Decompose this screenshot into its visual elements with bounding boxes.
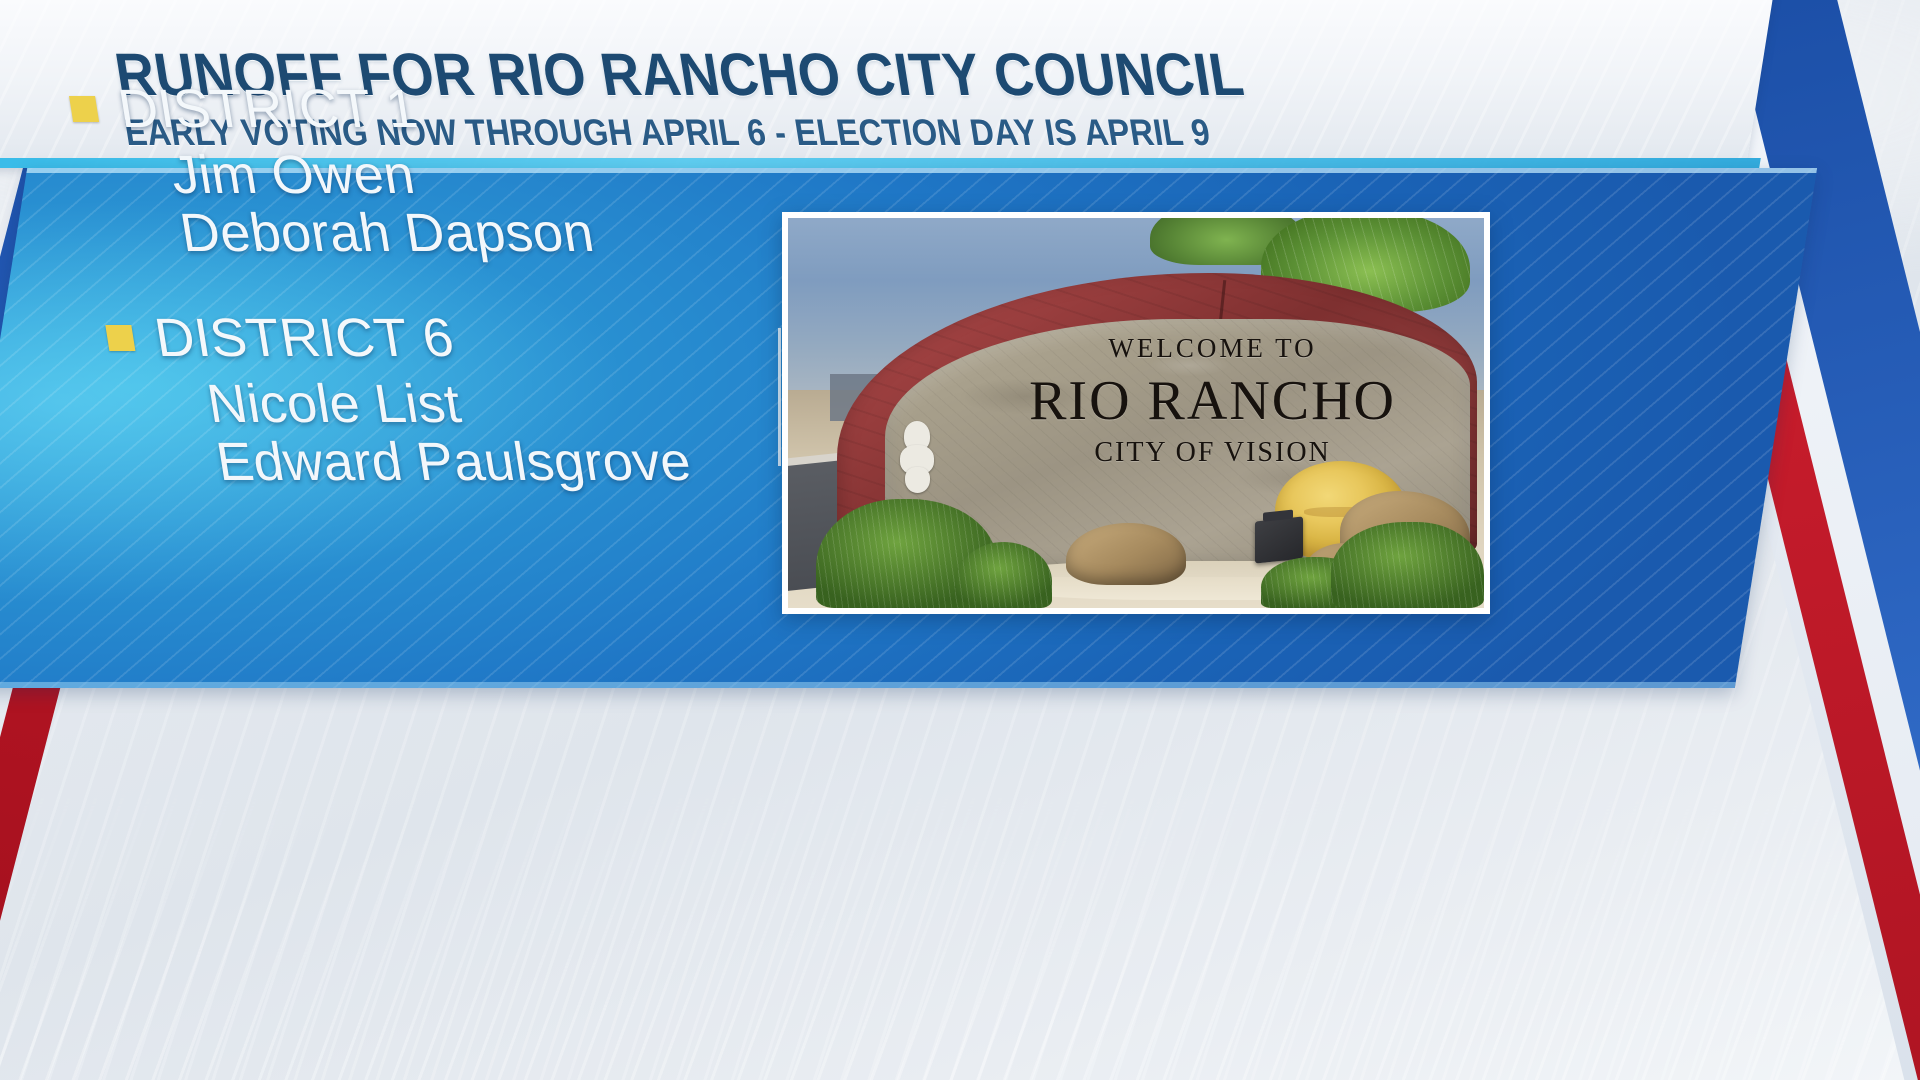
district-group: DISTRICT 1 Jim Owen Deborah Dapson	[66, 78, 855, 263]
sign-tagline: CITY OF VISION	[955, 439, 1470, 467]
monument-inscription: WELCOME TO RIO RANCHO CITY OF VISION	[955, 335, 1470, 467]
photo-card: WELCOME TO RIO RANCHO CITY OF VISION	[782, 212, 1490, 614]
candidate-name: Deborah Dapson	[176, 204, 855, 262]
district-heading: DISTRICT 6	[102, 307, 872, 369]
square-bullet-icon	[69, 96, 99, 122]
district-group: DISTRICT 6 Nicole List Edward Paulsgrove	[102, 307, 891, 492]
sign-city-name: RIO RANCHO	[955, 372, 1470, 431]
panel-bottom-rule	[0, 682, 1736, 688]
photo-shrub	[1331, 522, 1484, 608]
accent-line-vertical	[778, 328, 781, 466]
bottom-haze-texture	[0, 780, 1920, 1080]
district-heading: DISTRICT 1	[66, 78, 836, 140]
district-list: DISTRICT 1 Jim Owen Deborah Dapson DISTR…	[66, 78, 891, 491]
district-label: DISTRICT 6	[150, 307, 458, 369]
broadcast-graphic: RUNOFF FOR RIO RANCHO CITY COUNCIL EARLY…	[0, 0, 1920, 1080]
sign-welcome-line: WELCOME TO	[955, 335, 1470, 362]
square-bullet-icon	[105, 325, 135, 351]
zia-flower-emblem-icon	[896, 421, 938, 493]
photo-light-fixture	[1255, 517, 1303, 564]
rio-rancho-sign-photo: WELCOME TO RIO RANCHO CITY OF VISION	[788, 218, 1484, 608]
district-label: DISTRICT 1	[114, 78, 422, 140]
candidate-name: Jim Owen	[167, 146, 846, 204]
